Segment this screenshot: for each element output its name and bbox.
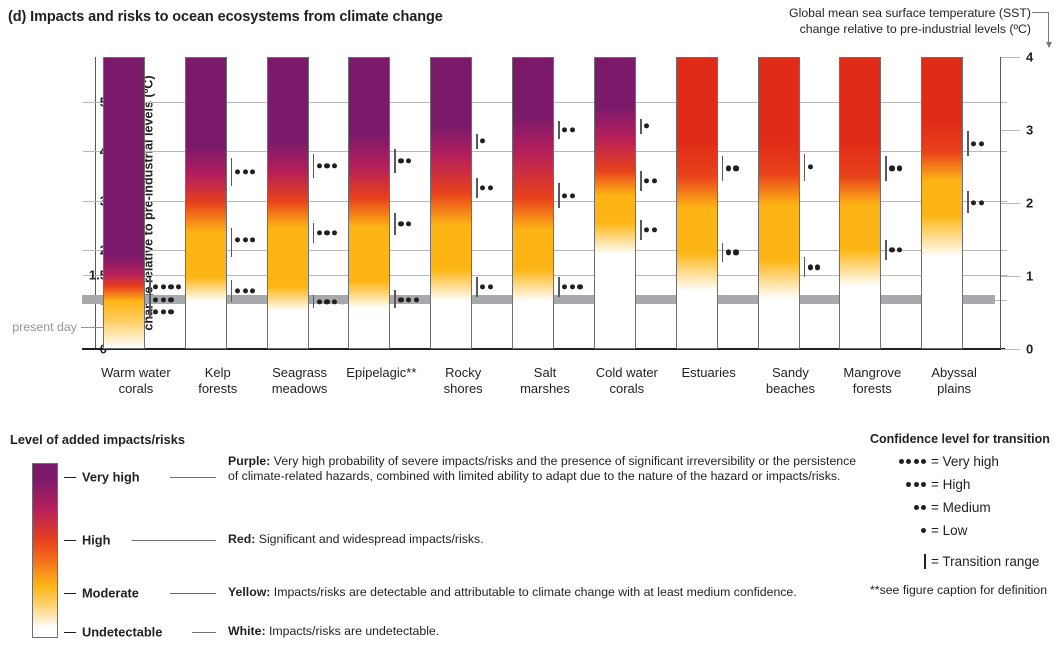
legend-level-label: High xyxy=(82,533,110,548)
transition-range-bar xyxy=(394,213,396,235)
confidence-dots xyxy=(562,193,575,198)
legend-description-color-name: Red: xyxy=(228,532,255,546)
confidence-legend-label: = High xyxy=(931,477,970,492)
confidence-dots xyxy=(235,169,256,174)
confidence-dots xyxy=(235,288,256,293)
confidence-dot xyxy=(317,299,322,304)
confidence-dots xyxy=(153,285,181,290)
confidence-legend-dots xyxy=(870,459,931,464)
transition-range-bar xyxy=(476,178,478,198)
legend-description-color-name: Purple: xyxy=(228,454,270,468)
confidence-dots xyxy=(889,247,902,252)
transition-range-bar xyxy=(476,134,478,149)
confidence-dots xyxy=(317,230,338,235)
confidence-dot xyxy=(914,459,919,464)
transition-range-bar xyxy=(394,290,396,309)
confidence-dot xyxy=(168,285,173,290)
right-axis-tick xyxy=(1001,130,1020,131)
confidence-legend-rows: = Very high= High= Medium= Low xyxy=(870,454,1061,538)
confidence-dot xyxy=(577,285,582,290)
right-axis-tick xyxy=(1001,57,1020,58)
confidence-dot xyxy=(726,166,731,171)
confidence-dots xyxy=(644,178,657,183)
confidence-dot xyxy=(897,247,902,252)
transition-range-bar xyxy=(722,243,724,263)
burning-embers-plot: Global mean surface temperature (GMST) c… xyxy=(95,57,995,349)
transition-range-bar xyxy=(476,277,478,297)
confidence-dot xyxy=(235,238,240,243)
confidence-dot xyxy=(897,166,902,171)
confidence-legend: Confidence level for transition = Very h… xyxy=(870,432,1061,597)
confidence-dot xyxy=(921,482,926,487)
transition-range-bar xyxy=(149,305,151,318)
confidence-dot xyxy=(644,124,649,129)
confidence-dot xyxy=(979,141,984,146)
confidence-dots xyxy=(480,285,493,290)
confidence-dots xyxy=(971,200,984,205)
legend-ember-bar xyxy=(32,463,58,638)
transition-range-bar xyxy=(804,154,806,181)
confidence-legend-label: = Low xyxy=(931,523,967,538)
confidence-dot xyxy=(317,230,322,235)
ember-bar[interactable] xyxy=(676,57,718,349)
confidence-legend-title: Confidence level for transition xyxy=(870,432,1061,446)
confidence-legend-label: = Very high xyxy=(931,454,999,469)
transition-range-bar xyxy=(558,277,560,297)
confidence-dot xyxy=(889,166,894,171)
transition-range-bar xyxy=(231,228,233,258)
confidence-dots xyxy=(726,250,739,255)
confidence-dot xyxy=(153,297,158,302)
confidence-dot xyxy=(250,288,255,293)
confidence-dot xyxy=(398,297,403,302)
ember-bar[interactable] xyxy=(758,57,800,349)
legend-level-dash xyxy=(64,593,76,594)
transition-range-label: = Transition range xyxy=(931,554,1039,569)
confidence-dot xyxy=(176,285,181,290)
confidence-dots xyxy=(726,166,739,171)
ember-bar[interactable] xyxy=(267,57,309,349)
confidence-dot xyxy=(317,163,322,168)
confidence-dot xyxy=(570,128,575,133)
x-axis-label-line2: meadows xyxy=(245,381,355,397)
confidence-dot xyxy=(398,158,403,163)
confidence-dot xyxy=(488,285,493,290)
confidence-dot xyxy=(332,163,337,168)
legend-description-text: Significant and widespread impacts/risks… xyxy=(255,532,483,546)
confidence-dot xyxy=(971,200,976,205)
confidence-dot xyxy=(979,200,984,205)
confidence-dot xyxy=(161,285,166,290)
confidence-dot xyxy=(808,265,813,270)
confidence-dot xyxy=(921,505,926,510)
legend-level-label: Moderate xyxy=(82,585,139,600)
confidence-dot xyxy=(733,166,738,171)
confidence-dot xyxy=(406,158,411,163)
confidence-legend-dots xyxy=(870,482,931,487)
confidence-dot xyxy=(243,169,248,174)
confidence-dot xyxy=(332,230,337,235)
x-axis-label: Abyssalplains xyxy=(899,365,1009,396)
confidence-dot xyxy=(644,178,649,183)
legend-description-text: Impacts/risks are undetectable. xyxy=(266,624,440,638)
legend-level-dash xyxy=(64,477,76,478)
ember-bar[interactable] xyxy=(512,57,554,349)
confidence-dot xyxy=(153,309,158,314)
legend-connector-line xyxy=(170,477,216,478)
transition-range-icon xyxy=(870,554,931,569)
confidence-dot xyxy=(250,169,255,174)
confidence-dot xyxy=(324,299,329,304)
sst-pointer-arrow xyxy=(1032,12,1049,47)
right-axis-tick-label: 2 xyxy=(1026,196,1046,211)
confidence-dot xyxy=(243,238,248,243)
confidence-dot xyxy=(414,297,419,302)
confidence-dot xyxy=(406,222,411,227)
transition-range-bar xyxy=(231,280,233,302)
transition-range-bar xyxy=(804,257,806,277)
legend-level-dash xyxy=(64,632,76,633)
confidence-dot xyxy=(914,505,919,510)
confidence-dot xyxy=(562,128,567,133)
confidence-dots xyxy=(644,228,657,233)
transition-range-bar xyxy=(313,154,315,179)
confidence-dots xyxy=(153,309,174,314)
confidence-dot xyxy=(906,482,911,487)
confidence-dots xyxy=(398,158,411,163)
legend-description: Red: Significant and widespread impacts/… xyxy=(228,532,868,547)
confidence-dot xyxy=(324,230,329,235)
confidence-dots xyxy=(398,222,411,227)
confidence-dot xyxy=(488,186,493,191)
confidence-dot xyxy=(235,288,240,293)
confidence-dots xyxy=(808,164,813,169)
confidence-dots xyxy=(398,297,419,302)
right-axis-tick xyxy=(1001,203,1020,204)
right-axis-tick-label: 4 xyxy=(1026,50,1046,65)
confidence-legend-dots xyxy=(870,528,931,533)
confidence-dot xyxy=(906,459,911,464)
legend-description: White: Impacts/risks are undetectable. xyxy=(228,624,868,639)
confidence-legend-footnote: **see figure caption for definition xyxy=(870,583,1061,597)
confidence-legend-row: = Medium xyxy=(870,500,1061,515)
ember-bar[interactable] xyxy=(430,57,472,349)
confidence-dots xyxy=(889,166,902,171)
transition-range-bar xyxy=(394,149,396,174)
confidence-dots xyxy=(562,285,583,290)
confidence-dot xyxy=(562,193,567,198)
confidence-dot xyxy=(726,250,731,255)
confidence-dot xyxy=(808,164,813,169)
confidence-dot xyxy=(480,285,485,290)
confidence-dot xyxy=(161,309,166,314)
legend-description: Yellow: Impacts/risks are detectable and… xyxy=(228,585,868,600)
transition-range-bar xyxy=(640,220,642,240)
confidence-dots xyxy=(317,163,338,168)
confidence-dot xyxy=(168,309,173,314)
present-day-label: present day xyxy=(3,320,77,334)
transition-range-bar xyxy=(722,156,724,181)
confidence-legend-row: = High xyxy=(870,477,1061,492)
legend-description-color-name: Yellow: xyxy=(228,585,270,599)
transition-range-bar xyxy=(967,131,969,156)
confidence-dot xyxy=(243,288,248,293)
confidence-dot xyxy=(652,178,657,183)
ember-bar[interactable] xyxy=(594,57,636,349)
page-title: (d) Impacts and risks to ocean ecosystem… xyxy=(8,9,443,25)
right-axis-tick-label: 3 xyxy=(1026,123,1046,138)
legend-connector-line xyxy=(192,632,216,633)
transition-range-bar xyxy=(885,240,887,260)
confidence-dot xyxy=(733,250,738,255)
confidence-dot xyxy=(250,238,255,243)
confidence-dots xyxy=(235,238,256,243)
confidence-dot xyxy=(815,265,820,270)
transition-range-bar xyxy=(558,121,560,138)
confidence-dot xyxy=(480,186,485,191)
confidence-legend-label: = Medium xyxy=(931,500,991,515)
confidence-dot xyxy=(570,285,575,290)
confidence-dot xyxy=(406,297,411,302)
transition-range-bar xyxy=(313,295,315,309)
x-axis-label-line2: corals xyxy=(572,381,682,397)
legend-connector-line xyxy=(132,540,216,541)
confidence-dots xyxy=(644,124,649,129)
ember-bar[interactable] xyxy=(921,57,963,349)
confidence-dot xyxy=(562,285,567,290)
confidence-dot xyxy=(914,482,919,487)
ember-bar[interactable] xyxy=(103,57,145,349)
transition-range-bar xyxy=(231,158,233,185)
transition-range-bar xyxy=(558,183,560,208)
right-axis-tick-label: 0 xyxy=(1026,342,1046,357)
legend-level-label: Very high xyxy=(82,470,140,485)
confidence-dot xyxy=(644,228,649,233)
x-axis-label-line2: plains xyxy=(899,381,1009,397)
confidence-dot xyxy=(480,139,485,144)
confidence-dot xyxy=(168,297,173,302)
confidence-dot xyxy=(570,193,575,198)
ember-bar[interactable] xyxy=(839,57,881,349)
confidence-dots xyxy=(971,141,984,146)
legend-description-text: Impacts/risks are detectable and attribu… xyxy=(270,585,796,599)
confidence-dot xyxy=(899,459,904,464)
transition-range-bar xyxy=(885,156,887,181)
right-axis-tick xyxy=(1001,276,1020,277)
transition-range-legend-row: = Transition range xyxy=(870,554,1061,569)
right-axis-tick xyxy=(1001,349,1020,350)
sst-axis-caption: Global mean sea surface temperature (SST… xyxy=(731,6,1031,37)
confidence-dot xyxy=(235,169,240,174)
confidence-legend-dots xyxy=(870,505,931,510)
transition-range-bar xyxy=(313,223,315,243)
confidence-dot xyxy=(921,459,926,464)
right-axis-tick-label: 1 xyxy=(1026,269,1046,284)
legend-level-dash xyxy=(64,540,76,541)
legend-description: Purple: Very high probability of severe … xyxy=(228,454,868,484)
legend-level-label: Undetectable xyxy=(82,624,162,639)
sst-caption-line1: Global mean sea surface temperature (SST… xyxy=(731,6,1031,22)
legend-description-color-name: White: xyxy=(228,624,266,638)
figure-root: (d) Impacts and risks to ocean ecosystem… xyxy=(0,0,1061,660)
ember-bar[interactable] xyxy=(348,57,390,349)
confidence-dot xyxy=(652,228,657,233)
confidence-dot xyxy=(889,247,894,252)
confidence-dots xyxy=(480,139,485,144)
legend-connector-line xyxy=(170,593,216,594)
ember-bar[interactable] xyxy=(185,57,227,349)
legend-description-text: Very high probability of severe impacts/… xyxy=(228,454,856,483)
confidence-dot xyxy=(332,299,337,304)
transition-range-bar xyxy=(640,119,642,134)
sst-caption-line2: change relative to pre-industrial levels… xyxy=(731,22,1031,38)
transition-range-bar xyxy=(640,171,642,191)
confidence-dot xyxy=(153,285,158,290)
confidence-dot xyxy=(398,222,403,227)
confidence-dot xyxy=(161,297,166,302)
transition-range-bar xyxy=(967,191,969,213)
confidence-legend-row: = Very high xyxy=(870,454,1061,469)
confidence-dot xyxy=(921,528,926,533)
x-axis-label-line1: Abyssal xyxy=(899,365,1009,381)
confidence-dots xyxy=(562,128,575,133)
confidence-dot xyxy=(324,163,329,168)
confidence-dots xyxy=(808,265,821,270)
confidence-dot xyxy=(971,141,976,146)
confidence-legend-row: = Low xyxy=(870,523,1061,538)
confidence-dots xyxy=(480,186,493,191)
